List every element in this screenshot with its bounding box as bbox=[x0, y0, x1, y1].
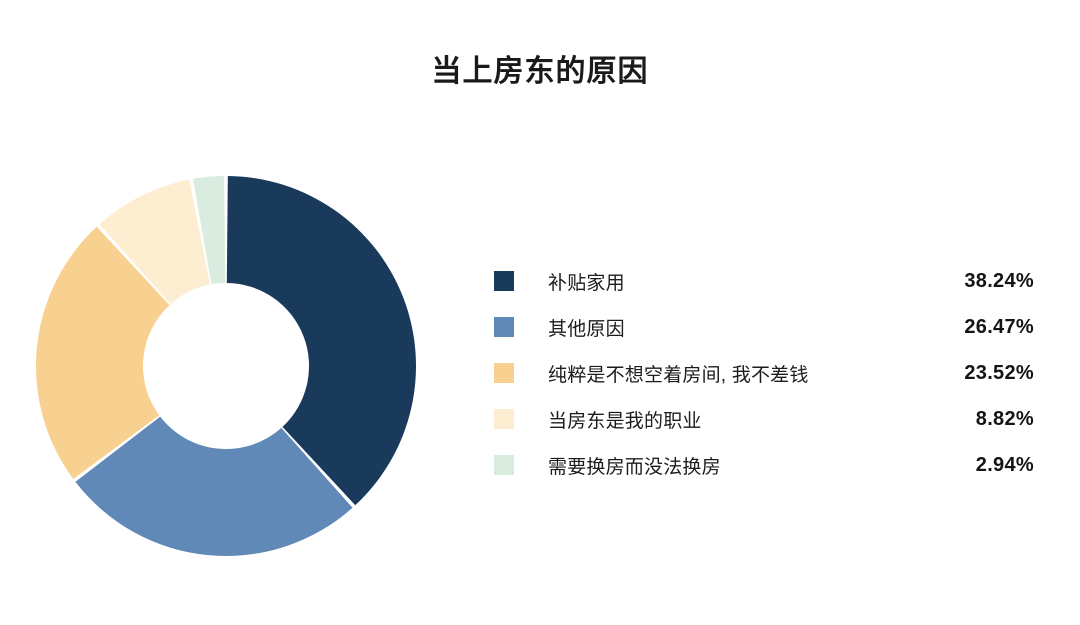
legend-item[interactable]: 当房东是我的职业8.82% bbox=[494, 396, 1034, 442]
legend-item-value: 26.47% bbox=[914, 316, 1034, 339]
legend-item-label: 纯粹是不想空着房间, 我不差钱 bbox=[548, 360, 914, 387]
legend-color-swatch bbox=[494, 317, 514, 337]
legend-color-swatch bbox=[494, 455, 514, 475]
legend-item-value: 38.24% bbox=[914, 270, 1034, 293]
legend-item-label: 其他原因 bbox=[548, 314, 914, 341]
legend-color-swatch bbox=[494, 271, 514, 291]
legend-item-label: 补贴家用 bbox=[548, 268, 914, 295]
legend-item[interactable]: 补贴家用38.24% bbox=[494, 258, 1034, 304]
legend-item[interactable]: 其他原因26.47% bbox=[494, 304, 1034, 350]
page-title: 当上房东的原因 bbox=[0, 46, 1080, 90]
legend-item-value: 2.94% bbox=[914, 454, 1034, 477]
legend-color-swatch bbox=[494, 363, 514, 383]
legend-color-swatch bbox=[494, 409, 514, 429]
donut-chart bbox=[36, 175, 416, 557]
legend-item-label: 需要换房而没法换房 bbox=[548, 452, 914, 479]
legend-item-label: 当房东是我的职业 bbox=[548, 406, 914, 433]
donut-chart-svg bbox=[36, 175, 416, 557]
legend-item[interactable]: 需要换房而没法换房2.94% bbox=[494, 442, 1034, 488]
legend-item-value: 23.52% bbox=[914, 362, 1034, 385]
chart-legend: 补贴家用38.24%其他原因26.47%纯粹是不想空着房间, 我不差钱23.52… bbox=[494, 258, 1034, 488]
legend-item[interactable]: 纯粹是不想空着房间, 我不差钱23.52% bbox=[494, 350, 1034, 396]
legend-item-value: 8.82% bbox=[914, 408, 1034, 431]
